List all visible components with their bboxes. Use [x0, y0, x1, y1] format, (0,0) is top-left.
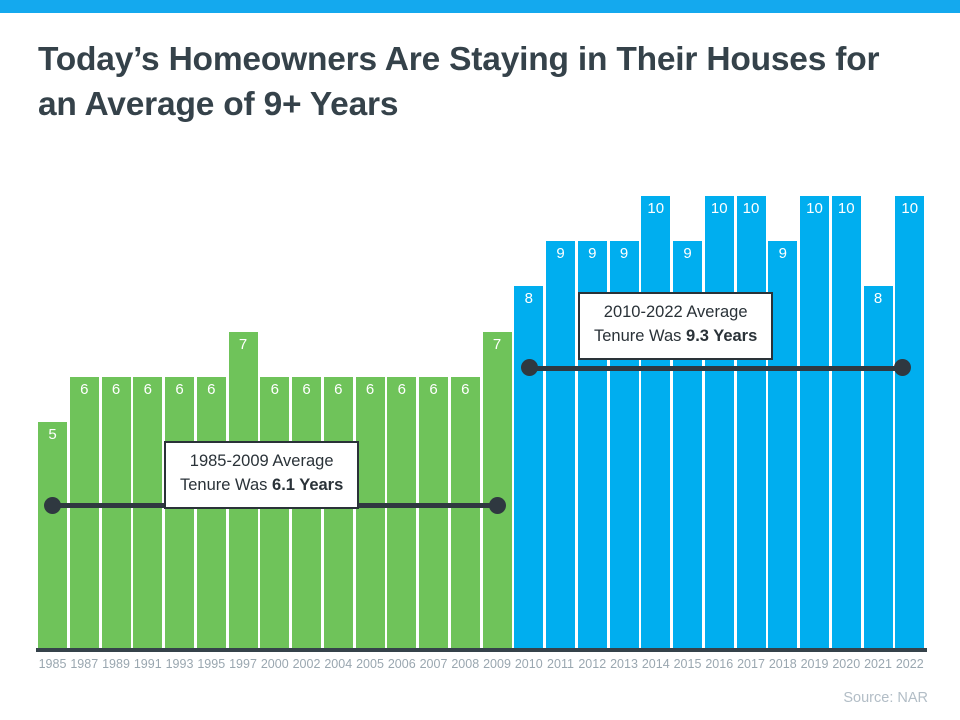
bar-value-2022: 10	[895, 201, 924, 218]
bar-value-1985: 5	[38, 427, 67, 444]
source-note: Source: NAR	[843, 690, 928, 706]
tick-label-2008: 2008	[448, 657, 482, 671]
bar-2008: 6	[451, 377, 480, 648]
bar-2021: 8	[864, 286, 893, 648]
callout-blue-line2-value: 9.3 Years	[686, 327, 757, 345]
bar-1989: 6	[102, 377, 131, 648]
bar-value-2005: 6	[356, 382, 385, 399]
tick-label-2020: 2020	[829, 657, 863, 671]
tick-label-2009: 2009	[480, 657, 514, 671]
blue-average-connector-dot-left	[521, 359, 538, 376]
bar-2022: 10	[895, 196, 924, 648]
tick-label-2018: 2018	[766, 657, 800, 671]
bar-2014: 10	[641, 196, 670, 648]
bar-value-2012: 9	[578, 246, 607, 263]
bar-value-2021: 8	[864, 291, 893, 308]
tick-label-2022: 2022	[893, 657, 927, 671]
tick-label-2013: 2013	[607, 657, 641, 671]
bar-value-2007: 6	[419, 382, 448, 399]
bar-value-2015: 9	[673, 246, 702, 263]
tick-label-2017: 2017	[734, 657, 768, 671]
green-average-connector-dot-right	[489, 497, 506, 514]
bar-2011: 9	[546, 241, 575, 648]
bar-value-2019: 10	[800, 201, 829, 218]
tick-label-1993: 1993	[163, 657, 197, 671]
bar-value-2006: 6	[387, 382, 416, 399]
tick-label-2011: 2011	[544, 657, 578, 671]
bar-2006: 6	[387, 377, 416, 648]
bar-value-2008: 6	[451, 382, 480, 399]
bar-value-2002: 6	[292, 382, 321, 399]
bar-2010: 8	[514, 286, 543, 648]
tick-label-2010: 2010	[512, 657, 546, 671]
tick-label-1987: 1987	[67, 657, 101, 671]
bar-2009: 7	[483, 332, 512, 648]
tick-label-2015: 2015	[671, 657, 705, 671]
callout-green-line2: Tenure Was 6.1 Years	[180, 474, 343, 498]
tick-label-2000: 2000	[258, 657, 292, 671]
bar-2019: 10	[800, 196, 829, 648]
callout-blue-line1: 2010-2022 Average	[594, 301, 757, 325]
bar-value-1989: 6	[102, 382, 131, 399]
bar-value-2009: 7	[483, 337, 512, 354]
callout-blue-line2-prefix: Tenure Was	[594, 327, 686, 345]
tick-label-1997: 1997	[226, 657, 260, 671]
callout-green-line1: 1985-2009 Average	[180, 450, 343, 474]
bar-2005: 6	[356, 377, 385, 648]
bar-1995: 6	[197, 377, 226, 648]
bar-2017: 10	[737, 196, 766, 648]
bar-value-2000: 6	[260, 382, 289, 399]
bar-value-2018: 9	[768, 246, 797, 263]
tick-label-1989: 1989	[99, 657, 133, 671]
bar-chart: 5666667666666678999109101091010810 19851…	[0, 0, 960, 720]
blue-average-connector-dot-right	[894, 359, 911, 376]
tick-label-1985: 1985	[36, 657, 70, 671]
bar-value-1987: 6	[70, 382, 99, 399]
bar-value-2016: 10	[705, 201, 734, 218]
bar-value-1995: 6	[197, 382, 226, 399]
tick-label-2014: 2014	[639, 657, 673, 671]
tick-label-2006: 2006	[385, 657, 419, 671]
bar-value-1991: 6	[133, 382, 162, 399]
bar-2016: 10	[705, 196, 734, 648]
bar-1985: 5	[38, 422, 67, 648]
bar-2004: 6	[324, 377, 353, 648]
tick-label-2016: 2016	[702, 657, 736, 671]
callout-1985-2009-average: 1985-2009 Average Tenure Was 6.1 Years	[164, 441, 359, 509]
tick-label-2005: 2005	[353, 657, 387, 671]
bar-value-2013: 9	[610, 246, 639, 263]
bar-value-2017: 10	[737, 201, 766, 218]
bar-1993: 6	[165, 377, 194, 648]
x-axis-line	[36, 648, 927, 652]
blue-average-connector-line	[530, 366, 906, 371]
tick-label-1995: 1995	[194, 657, 228, 671]
bar-value-2011: 9	[546, 246, 575, 263]
bar-value-2020: 10	[832, 201, 861, 218]
bar-1987: 6	[70, 377, 99, 648]
bar-1991: 6	[133, 377, 162, 648]
bar-value-2014: 10	[641, 201, 670, 218]
tick-label-2019: 2019	[798, 657, 832, 671]
bar-value-1997: 7	[229, 337, 258, 354]
bar-value-2004: 6	[324, 382, 353, 399]
callout-green-line2-prefix: Tenure Was	[180, 476, 272, 494]
callout-green-line2-value: 6.1 Years	[272, 476, 343, 494]
tick-label-2002: 2002	[290, 657, 324, 671]
tick-label-2021: 2021	[861, 657, 895, 671]
tick-label-2012: 2012	[575, 657, 609, 671]
bar-2020: 10	[832, 196, 861, 648]
green-average-connector-dot-left	[44, 497, 61, 514]
bar-value-2010: 8	[514, 291, 543, 308]
tick-label-1991: 1991	[131, 657, 165, 671]
bar-2002: 6	[292, 377, 321, 648]
bar-value-1993: 6	[165, 382, 194, 399]
bar-2000: 6	[260, 377, 289, 648]
tick-label-2004: 2004	[321, 657, 355, 671]
callout-blue-line2: Tenure Was 9.3 Years	[594, 325, 757, 349]
tick-label-2007: 2007	[417, 657, 451, 671]
bar-2007: 6	[419, 377, 448, 648]
callout-2010-2022-average: 2010-2022 Average Tenure Was 9.3 Years	[578, 292, 773, 360]
